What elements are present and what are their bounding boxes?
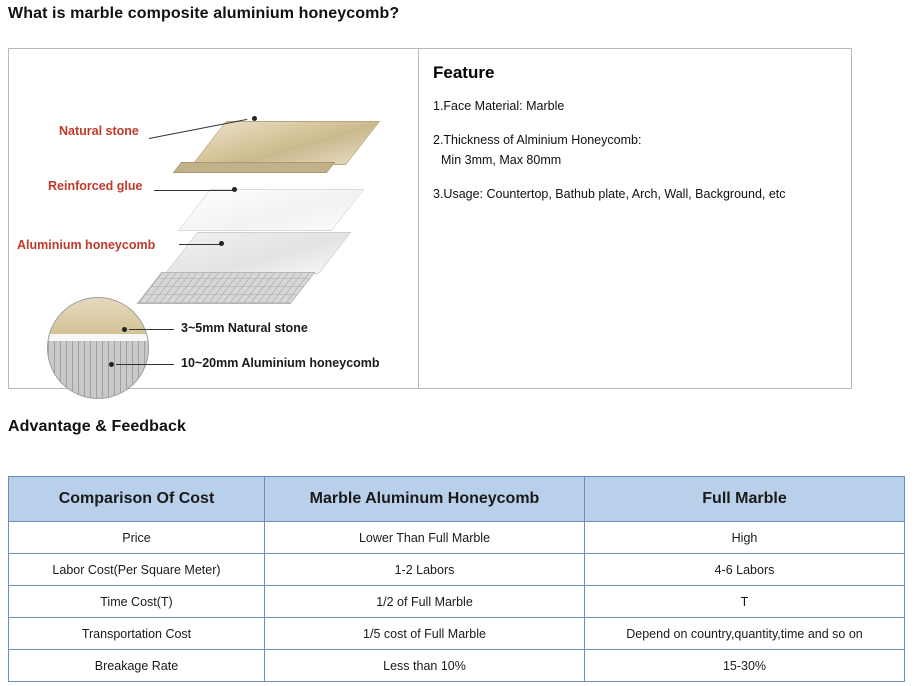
leader-dot-aluminium-honeycomb (219, 241, 224, 246)
table-header-cell-1: Marble Aluminum Honeycomb (265, 477, 585, 522)
panel-diagram: Natural stone Reinforced glue Aluminium … (9, 49, 419, 388)
diagram-label-aluminium-honeycomb: Aluminium honeycomb (17, 238, 155, 252)
page-title-advantage: Advantage & Feedback (8, 418, 186, 436)
table-cell-honeycomb: 1/5 cost of Full Marble (265, 618, 585, 650)
product-info-box: Natural stone Reinforced glue Aluminium … (8, 48, 852, 389)
layer-natural-stone-icon (192, 121, 380, 165)
diagram-label-reinforced-glue: Reinforced glue (48, 179, 142, 193)
table-row: Time Cost(T) 1/2 of Full Marble T (9, 586, 905, 618)
callout-dot-honeycomb (109, 362, 114, 367)
table-cell-label: Labor Cost(Per Square Meter) (9, 554, 265, 586)
callout-line-honeycomb (116, 364, 174, 365)
callout-line-stone (129, 329, 174, 330)
feature-heading: Feature (433, 63, 841, 83)
table-row: Price Lower Than Full Marble High (9, 522, 905, 554)
feature-line-3: 3.Usage: Countertop, Bathub plate, Arch,… (433, 187, 841, 201)
table-row: Breakage Rate Less than 10% 15-30% (9, 650, 905, 682)
leader-dot-natural-stone (252, 116, 257, 121)
table-cell-honeycomb: Less than 10% (265, 650, 585, 682)
table-row: Labor Cost(Per Square Meter) 1-2 Labors … (9, 554, 905, 586)
feature-line-2: 2.Thickness of Alminium Honeycomb: (433, 133, 841, 147)
cross-section-zoom-icon (47, 297, 149, 399)
layer-natural-stone-edge-icon (173, 162, 336, 173)
layer-reinforced-glue-icon (178, 189, 365, 231)
callout-dot-stone (122, 327, 127, 332)
table-cell-label: Breakage Rate (9, 650, 265, 682)
page-title-product: What is marble composite aluminium honey… (8, 5, 399, 23)
zoom-layer-glue-icon (48, 334, 148, 341)
callout-label-stone-thickness: 3~5mm Natural stone (181, 321, 308, 335)
exploded-panel-diagram: Natural stone Reinforced glue Aluminium … (9, 49, 418, 388)
leader-line-reinforced-glue (154, 190, 234, 191)
table-cell-honeycomb: Lower Than Full Marble (265, 522, 585, 554)
feature-line-2b: Min 3mm, Max 80mm (441, 153, 841, 167)
layer-aluminium-honeycomb-core-icon (136, 272, 315, 304)
table-cell-marble: High (585, 522, 905, 554)
table-cell-label: Price (9, 522, 265, 554)
callout-label-honeycomb-thickness: 10~20mm Aluminium honeycomb (181, 356, 380, 370)
document-page: What is marble composite aluminium honey… (0, 0, 918, 686)
table-cell-marble: Depend on country,quantity,time and so o… (585, 618, 905, 650)
feature-line-1: 1.Face Material: Marble (433, 99, 841, 113)
panel-feature: Feature 1.Face Material: Marble 2.Thickn… (419, 49, 851, 388)
table-cell-label: Time Cost(T) (9, 586, 265, 618)
table-header-cell-0: Comparison Of Cost (9, 477, 265, 522)
table-cell-marble: 4-6 Labors (585, 554, 905, 586)
leader-dot-reinforced-glue (232, 187, 237, 192)
table-header-cell-2: Full Marble (585, 477, 905, 522)
layer-aluminium-honeycomb-icon (165, 232, 352, 274)
leader-line-aluminium-honeycomb (179, 244, 221, 245)
table-cell-marble: 15-30% (585, 650, 905, 682)
table-cell-honeycomb: 1-2 Labors (265, 554, 585, 586)
diagram-label-natural-stone: Natural stone (59, 124, 139, 138)
comparison-table: Comparison Of Cost Marble Aluminum Honey… (8, 476, 905, 682)
table-row: Transportation Cost 1/5 cost of Full Mar… (9, 618, 905, 650)
table-cell-marble: T (585, 586, 905, 618)
zoom-layer-honeycomb-icon (48, 341, 148, 398)
table-cell-label: Transportation Cost (9, 618, 265, 650)
table-cell-honeycomb: 1/2 of Full Marble (265, 586, 585, 618)
table-header-row: Comparison Of Cost Marble Aluminum Honey… (9, 477, 905, 522)
